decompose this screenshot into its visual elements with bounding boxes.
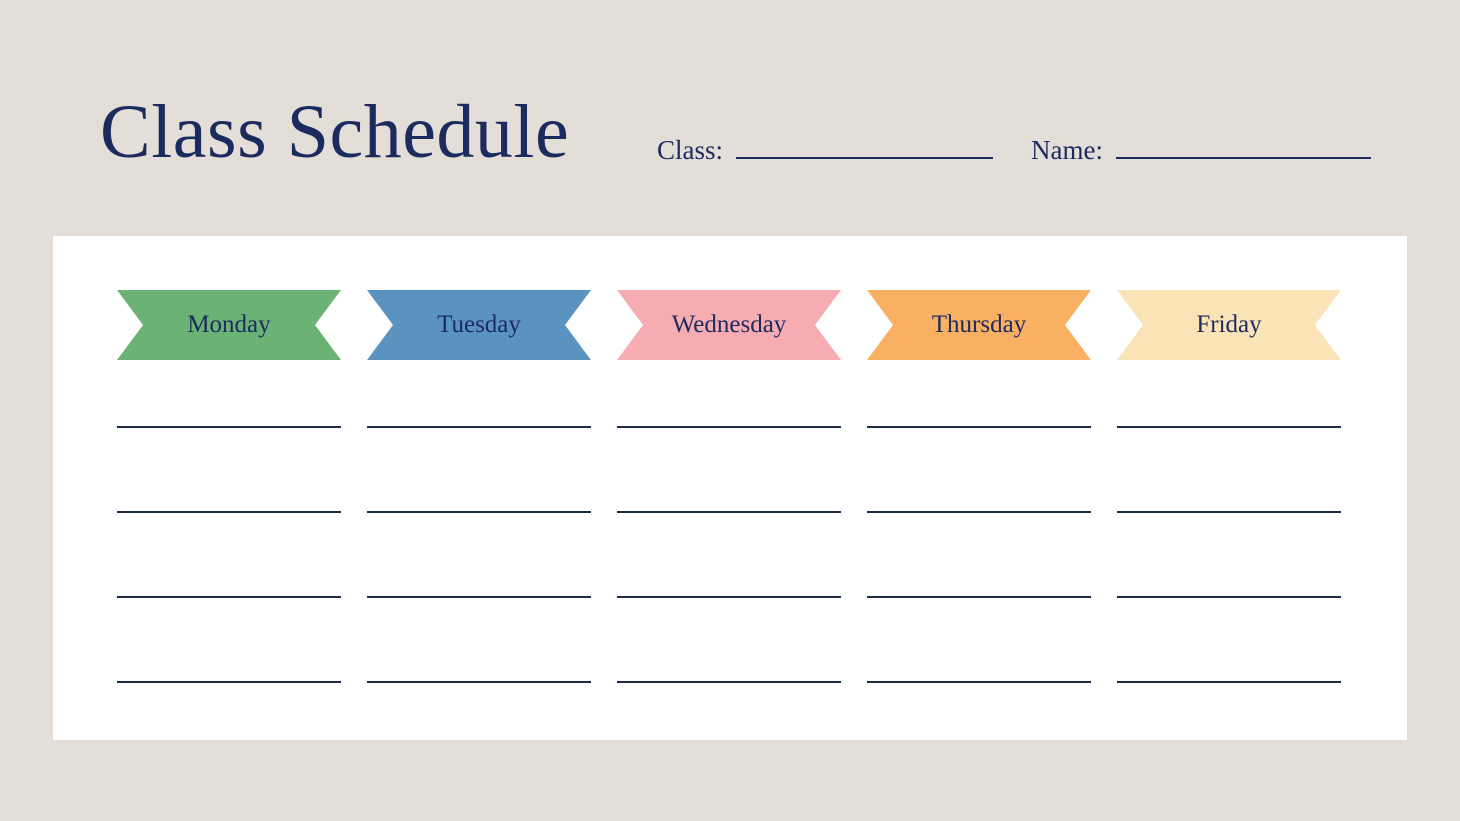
day-ribbon-monday[interactable]: Monday <box>117 290 341 360</box>
day-ribbon-wednesday[interactable]: Wednesday <box>617 290 841 360</box>
class-field-group: Class: <box>657 134 993 166</box>
schedule-entry-line[interactable] <box>867 596 1091 598</box>
schedule-entry-line[interactable] <box>367 596 591 598</box>
schedule-entry-line[interactable] <box>1117 426 1341 428</box>
day-ribbon-label: Thursday <box>932 310 1026 340</box>
day-ribbon-label: Friday <box>1196 310 1261 340</box>
schedule-entry-line[interactable] <box>367 681 591 683</box>
schedule-entry-line[interactable] <box>117 426 341 428</box>
schedule-entry-line[interactable] <box>1117 596 1341 598</box>
schedule-entry-line[interactable] <box>367 511 591 513</box>
schedule-entry-line[interactable] <box>367 426 591 428</box>
day-ribbon-label: Monday <box>187 310 270 340</box>
schedule-entry-line[interactable] <box>117 681 341 683</box>
class-field-label: Class: <box>657 134 723 166</box>
schedule-entry-line[interactable] <box>117 511 341 513</box>
name-input[interactable] <box>1116 135 1371 159</box>
schedule-entry-line[interactable] <box>867 426 1091 428</box>
page-title: Class Schedule <box>100 86 569 178</box>
schedule-entry-line[interactable] <box>117 596 341 598</box>
name-field-group: Name: <box>1031 134 1371 166</box>
class-input[interactable] <box>736 135 993 159</box>
day-ribbon-label: Wednesday <box>672 310 787 340</box>
day-lines-column-tuesday <box>367 426 591 686</box>
schedule-entry-line[interactable] <box>867 681 1091 683</box>
schedule-entry-line[interactable] <box>617 596 841 598</box>
day-ribbon-row: MondayTuesdayWednesdayThursdayFriday <box>117 290 1343 360</box>
header: Class Schedule Class: Name: <box>0 0 1460 236</box>
schedule-entry-line[interactable] <box>867 511 1091 513</box>
schedule-entry-line[interactable] <box>617 511 841 513</box>
day-ribbon-friday[interactable]: Friday <box>1117 290 1341 360</box>
schedule-entry-line[interactable] <box>1117 511 1341 513</box>
name-field-label: Name: <box>1031 134 1103 166</box>
writing-lines-area <box>117 426 1343 686</box>
day-lines-column-friday <box>1117 426 1341 686</box>
day-lines-column-monday <box>117 426 341 686</box>
day-ribbon-thursday[interactable]: Thursday <box>867 290 1091 360</box>
day-lines-column-wednesday <box>617 426 841 686</box>
day-lines-column-thursday <box>867 426 1091 686</box>
day-ribbon-label: Tuesday <box>437 310 521 340</box>
schedule-entry-line[interactable] <box>617 681 841 683</box>
day-ribbon-tuesday[interactable]: Tuesday <box>367 290 591 360</box>
schedule-card: MondayTuesdayWednesdayThursdayFriday <box>53 236 1407 740</box>
schedule-entry-line[interactable] <box>1117 681 1341 683</box>
schedule-entry-line[interactable] <box>617 426 841 428</box>
